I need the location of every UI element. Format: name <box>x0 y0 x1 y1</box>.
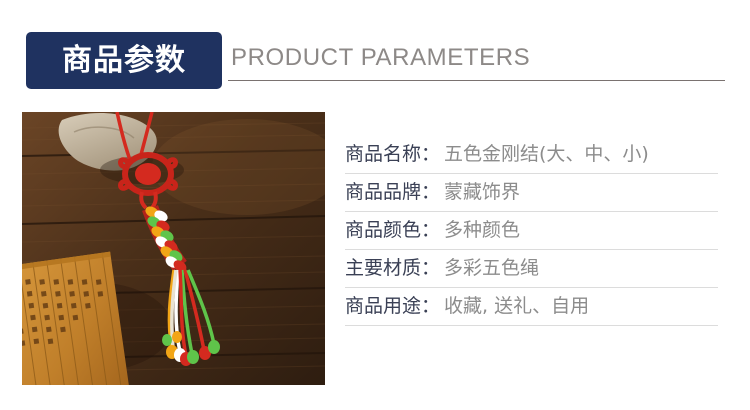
section-title-cn: 商品参数 <box>62 46 186 76</box>
product-image <box>22 112 325 385</box>
param-value: 收藏, 送礼、自用 <box>444 297 589 316</box>
table-row: 商品品牌： 蒙藏饰界 <box>345 174 718 212</box>
section-title-badge: 商品参数 <box>26 32 222 89</box>
param-label: 商品颜色： <box>345 221 440 240</box>
page-header: 商品参数 PRODUCT PARAMETERS <box>0 0 750 100</box>
param-label: 商品品牌： <box>345 183 440 202</box>
param-label: 商品名称： <box>345 145 440 164</box>
product-parameters-table: 商品名称： 五色金刚结(大、中、小) 商品品牌： 蒙藏饰界 商品颜色： 多种颜色… <box>345 136 718 326</box>
section-title-en: PRODUCT PARAMETERS <box>231 46 530 70</box>
table-row: 商品用途： 收藏, 送礼、自用 <box>345 288 718 326</box>
param-value: 多种颜色 <box>444 221 520 240</box>
param-value: 多彩五色绳 <box>444 259 539 278</box>
param-label: 主要材质： <box>345 259 440 278</box>
product-image-illustration <box>22 112 325 385</box>
table-row: 主要材质： 多彩五色绳 <box>345 250 718 288</box>
header-divider <box>228 80 725 81</box>
table-row: 商品颜色： 多种颜色 <box>345 212 718 250</box>
param-value: 蒙藏饰界 <box>444 183 520 202</box>
param-label: 商品用途： <box>345 297 440 316</box>
param-value: 五色金刚结(大、中、小) <box>444 145 649 164</box>
table-row: 商品名称： 五色金刚结(大、中、小) <box>345 136 718 174</box>
